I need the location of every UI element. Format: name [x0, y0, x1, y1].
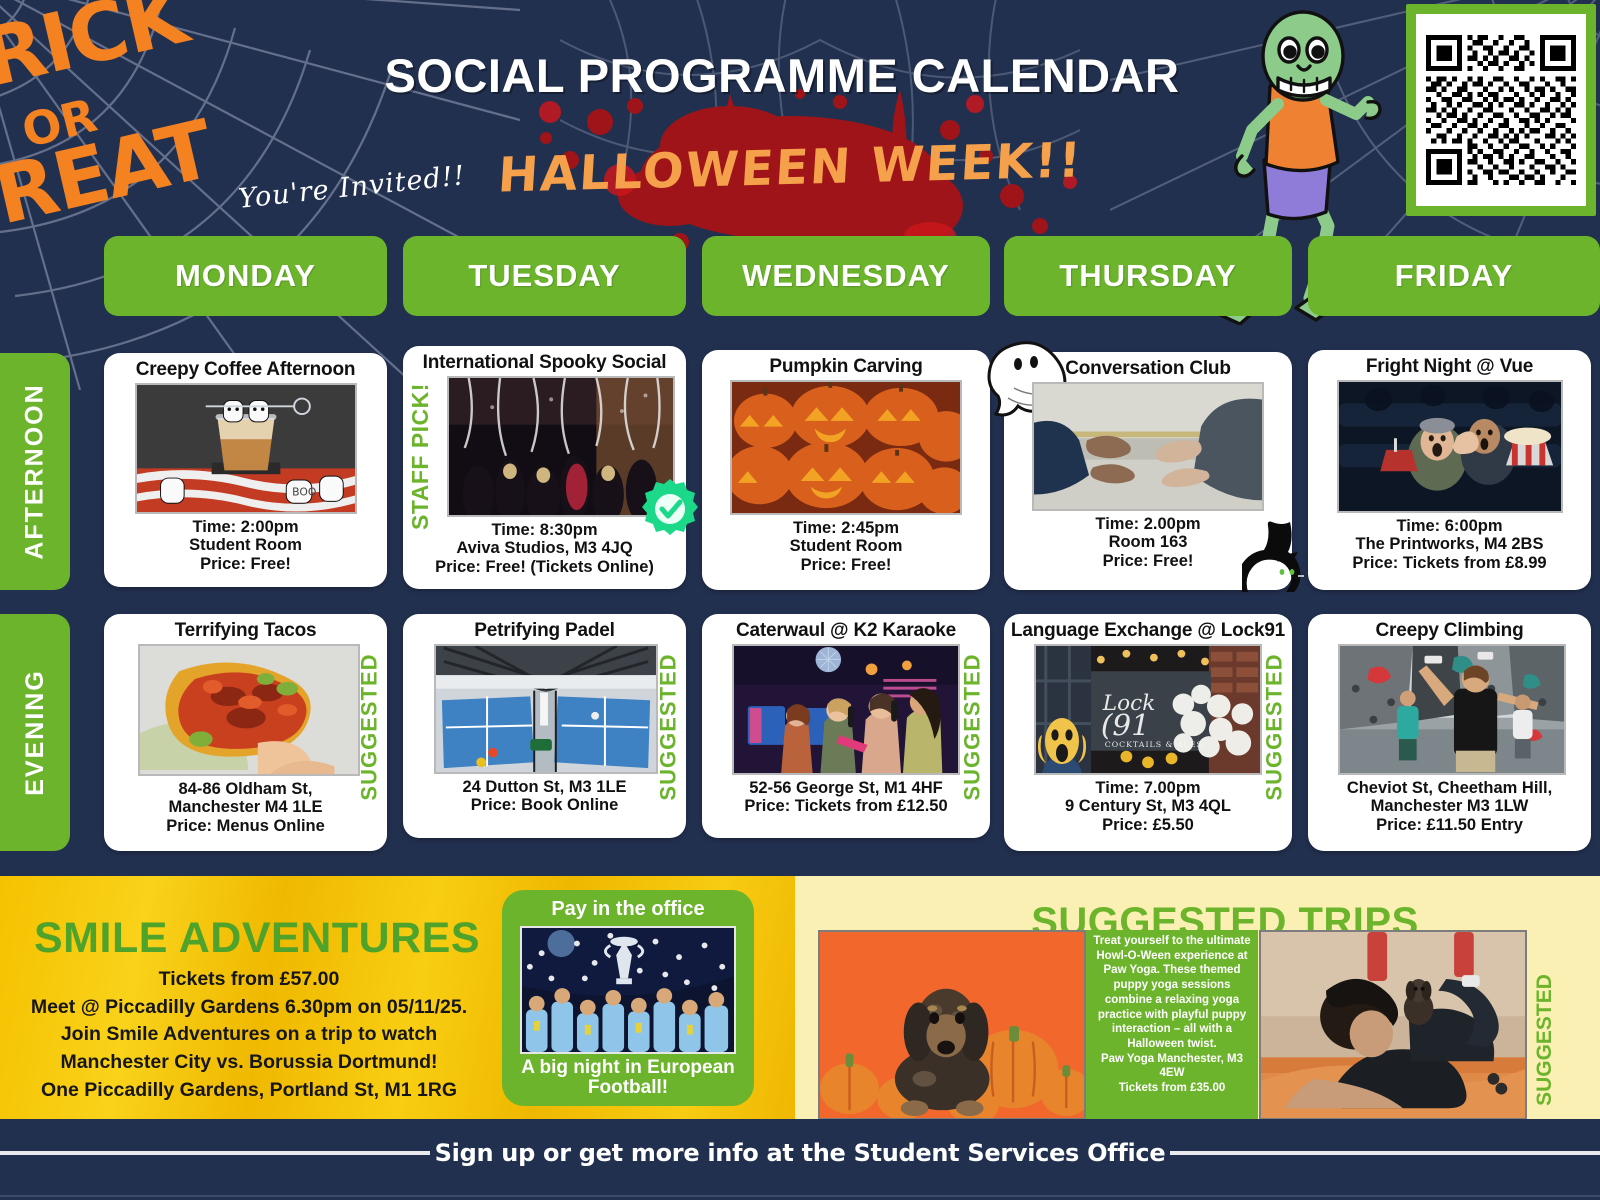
- day-header-thursday[interactable]: THURSDAY: [1004, 236, 1292, 316]
- event-title: International Spooky Social: [403, 346, 686, 376]
- event-photo-creepy-coffee: BOO: [135, 383, 357, 514]
- suggested-badge: SUGGESTED: [958, 632, 988, 822]
- event-title: Language Exchange @ Lock91: [1004, 614, 1292, 644]
- qr-code-inner: [1416, 14, 1586, 206]
- smile-adventures-body: Tickets from £57.00 Meet @ Piccadilly Ga…: [14, 966, 484, 1104]
- event-title: Petrifying Padel: [403, 614, 686, 644]
- event-photo-tacos: [138, 644, 360, 776]
- event-photo-padel: [434, 644, 658, 774]
- qr-code-block[interactable]: [1406, 4, 1596, 216]
- event-photo-karaoke: [732, 644, 960, 775]
- event-title: Creepy Climbing: [1308, 614, 1591, 644]
- event-photo-pumpkin-carving: [730, 380, 962, 515]
- suggested-label: SUGGESTED: [960, 653, 986, 800]
- scream-emoji-icon: [1036, 715, 1088, 777]
- suggested-badge: SUGGESTED: [1260, 632, 1290, 822]
- event-card-caterwaul-karaoke[interactable]: Caterwaul @ K2 Karaoke SUGGESTED: [702, 614, 990, 838]
- footer: Sign up or get more info at the Student …: [0, 1119, 1600, 1200]
- event-info: 84-86 Oldham St, Manchester M4 1LE Price…: [104, 776, 387, 835]
- pay-in-office-title: Pay in the office: [502, 890, 754, 921]
- event-card-pumpkin-carving[interactable]: Pumpkin Carving: [702, 350, 990, 590]
- pay-in-office-card[interactable]: Pay in the office: [502, 890, 754, 1106]
- event-info: Time: 6:00pm The Printworks, M4 2BS Pric…: [1308, 513, 1591, 572]
- qr-code-icon: [1426, 24, 1576, 196]
- event-card-terrifying-tacos[interactable]: Terrifying Tacos SUGGESTED 84-86 Oldham …: [104, 614, 387, 851]
- poster-root: TRICK OR TREAT You're Invited!!: [0, 0, 1600, 1200]
- staff-pick-badge: STAFF PICK!: [405, 366, 435, 546]
- suggested-label: SUGGESTED: [656, 653, 682, 800]
- event-card-petrifying-padel[interactable]: Petrifying Padel SUGGESTED: [403, 614, 686, 838]
- suggested-badge-trips: SUGGESTED: [1528, 960, 1562, 1120]
- day-header-row: MONDAY TUESDAY WEDNESDAY THURSDAY FRIDAY: [0, 236, 1600, 320]
- event-title: Caterwaul @ K2 Karaoke: [702, 614, 990, 644]
- event-card-fright-night[interactable]: Fright Night @ Vue Time: 6:0: [1308, 350, 1591, 590]
- event-photo-conversation-club: [1032, 382, 1264, 511]
- row-label-evening: EVENING: [0, 614, 70, 851]
- staff-pick-label: STAFF PICK!: [407, 383, 434, 530]
- row-label-evening-text: EVENING: [21, 669, 50, 796]
- event-title: Pumpkin Carving: [702, 350, 990, 380]
- event-info: 24 Dutton St, M3 1LE Price: Book Online: [403, 774, 686, 815]
- dachshund-pumpkins-photo: [818, 930, 1086, 1120]
- event-card-language-exchange[interactable]: Language Exchange @ Lock91 SUGGESTED Loc…: [1004, 614, 1292, 851]
- event-info: 52-56 George St, M1 4HF Price: Tickets f…: [702, 775, 990, 816]
- trick-or-treat-graphic: TRICK OR TREAT: [0, 0, 270, 242]
- black-cat-icon: [1242, 518, 1304, 596]
- row-label-afternoon-text: AFTERNOON: [21, 383, 50, 559]
- suggested-label: SUGGESTED: [1533, 974, 1557, 1106]
- event-info: Time: 2:45pm Student Room Price: Free!: [702, 515, 990, 574]
- day-header-wednesday[interactable]: WEDNESDAY: [702, 236, 990, 316]
- day-header-monday[interactable]: MONDAY: [104, 236, 387, 316]
- footer-hairline: [0, 1195, 1600, 1197]
- svg-text:BOO: BOO: [292, 486, 316, 499]
- svg-text:(91: (91: [1101, 708, 1150, 742]
- event-info: Cheviot St, Cheetham Hill, Manchester M3…: [1308, 775, 1591, 834]
- suggested-label: SUGGESTED: [357, 653, 383, 800]
- event-title: Terrifying Tacos: [104, 614, 387, 644]
- event-title: Fright Night @ Vue: [1308, 350, 1591, 380]
- row-label-afternoon: AFTERNOON: [0, 353, 70, 590]
- event-info: Time: 2:00pm Student Room Price: Free!: [104, 514, 387, 573]
- event-card-conversation-club[interactable]: Conversation Club: [1004, 352, 1292, 590]
- suggested-label: SUGGESTED: [1262, 653, 1288, 800]
- man-city-photo: [520, 926, 736, 1054]
- event-title: Creepy Coffee Afternoon: [104, 353, 387, 383]
- event-photo-climbing: [1338, 644, 1566, 775]
- footer-text: Sign up or get more info at the Student …: [0, 1139, 1600, 1167]
- smile-adventures-title: SMILE ADVENTURES: [32, 914, 482, 963]
- suggested-badge: SUGGESTED: [654, 632, 684, 822]
- paw-yoga-description: Treat yourself to the ultimate Howl-O-We…: [1086, 930, 1258, 1120]
- event-photo-fright-night: [1337, 380, 1563, 513]
- puppy-yoga-photo: [1259, 930, 1527, 1120]
- event-card-creepy-climbing[interactable]: Creepy Climbing: [1308, 614, 1591, 851]
- day-header-friday[interactable]: FRIDAY: [1308, 236, 1600, 316]
- day-header-tuesday[interactable]: TUESDAY: [403, 236, 686, 316]
- verified-check-icon: [638, 477, 702, 541]
- poster-header: TRICK OR TREAT You're Invited!!: [0, 0, 1600, 238]
- event-card-international-spooky-social[interactable]: International Spooky Social STAFF PICK!: [403, 346, 686, 589]
- event-info: Time: 7.00pm 9 Century St, M3 4QL Price:…: [1004, 775, 1292, 834]
- pay-in-office-caption: A big night in European Football!: [502, 1054, 754, 1098]
- event-card-creepy-coffee[interactable]: Creepy Coffee Afternoon: [104, 353, 387, 587]
